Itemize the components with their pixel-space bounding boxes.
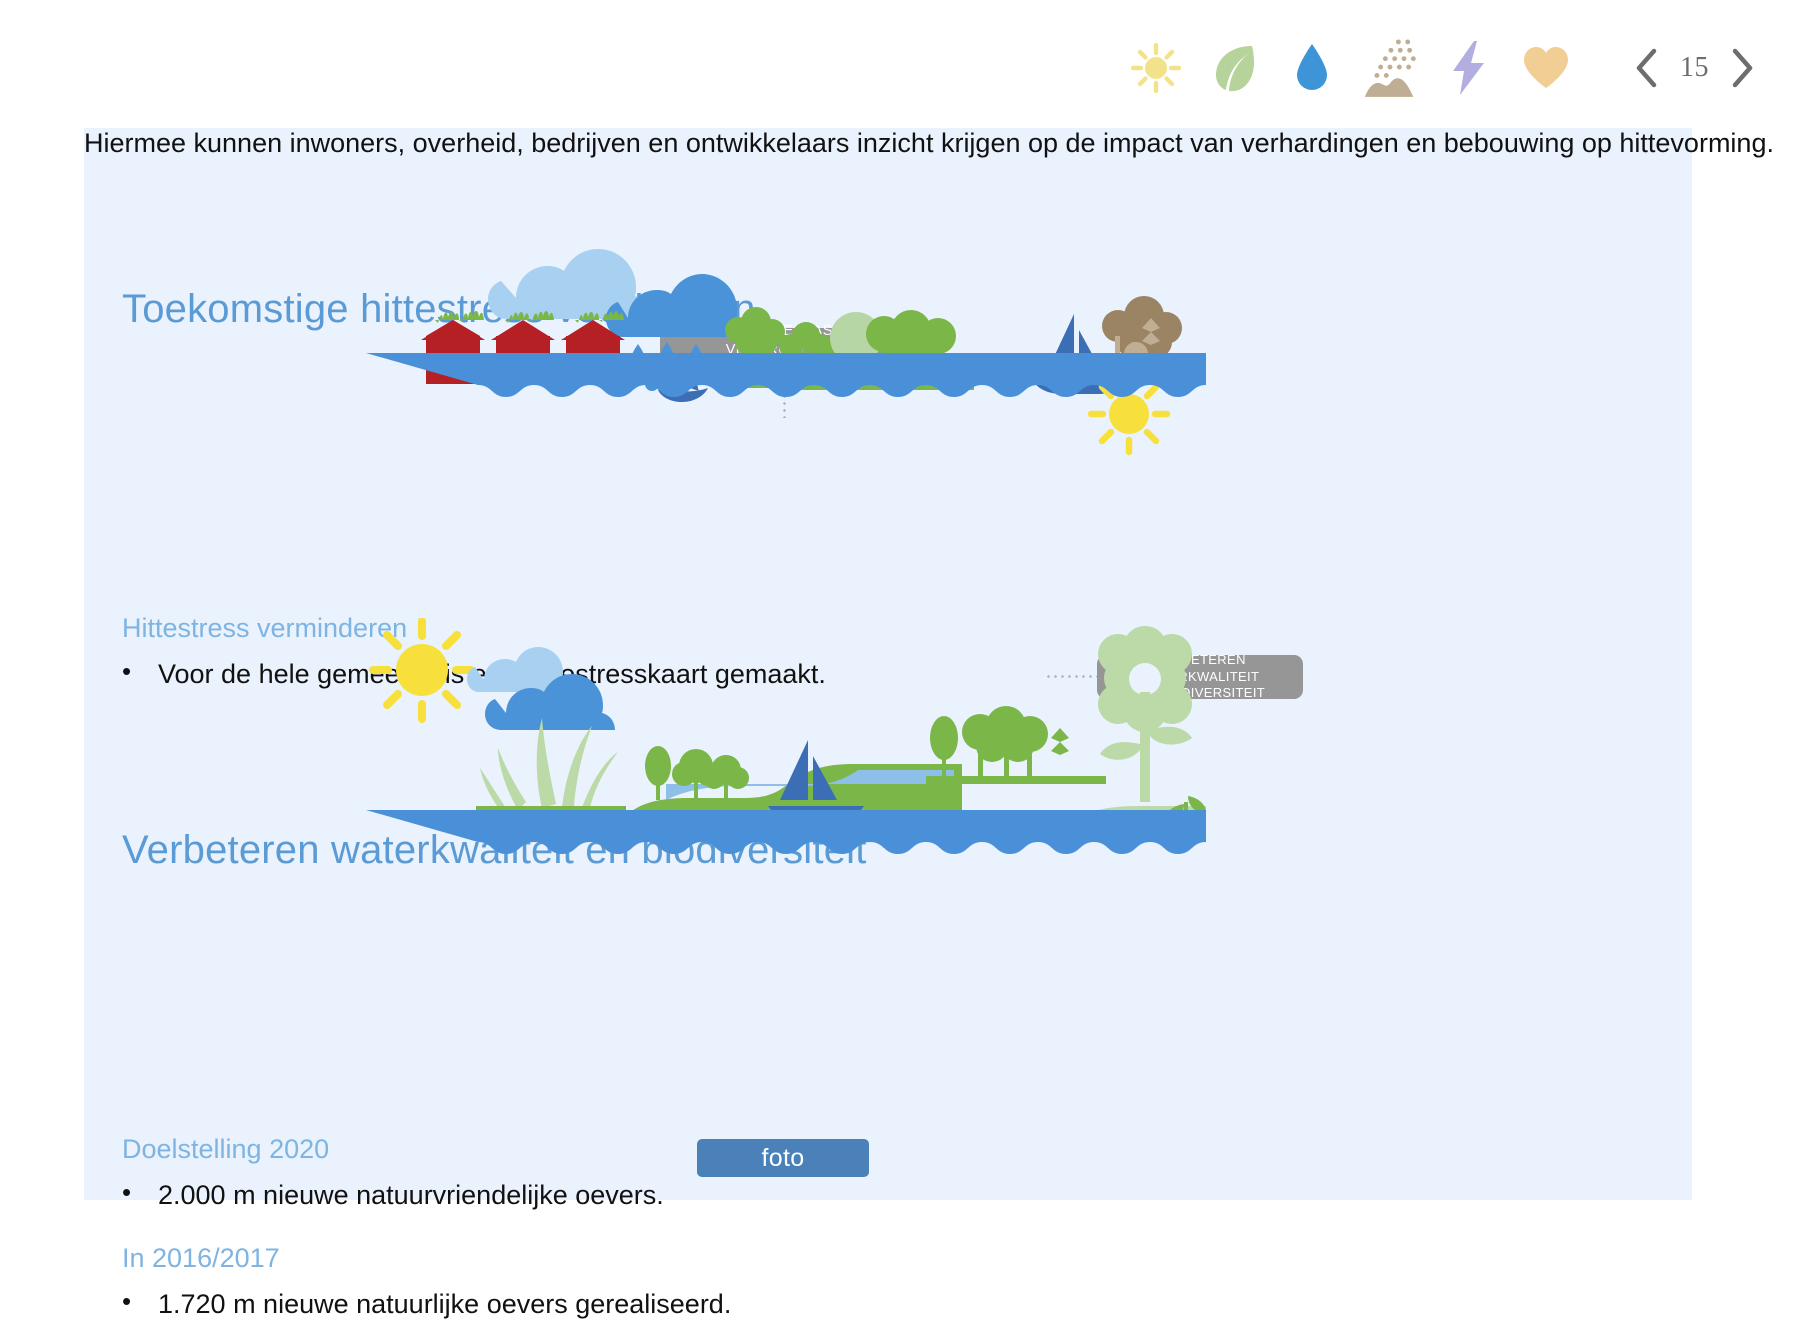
- section-1-bullet-continued: Hiermee kunnen inwoners, overheid, bedri…: [84, 128, 1692, 159]
- section-1-subheading: Hittestress verminderen: [122, 613, 407, 644]
- top-bar: 15: [0, 0, 1800, 128]
- section-2-bullet-year: • 1.720 m nieuwe natuurlijke oevers gere…: [122, 1285, 731, 1324]
- cloud-light-icon: [488, 249, 652, 319]
- flower-icon: [1098, 626, 1192, 802]
- bullet-marker: •: [122, 1285, 158, 1318]
- slide-panel: Toekomstige hittestress voorkomen WATERO…: [84, 128, 1692, 1200]
- water-band-1: [366, 343, 1206, 418]
- bullet-marker: •: [122, 1176, 158, 1209]
- bullet-marker: •: [122, 655, 158, 688]
- theme-icon-row: 15: [1128, 38, 1755, 98]
- section-2-bullet-goal: • 2.000 m nieuwe natuurvriendelijke oeve…: [122, 1176, 664, 1215]
- next-page-button[interactable]: [1729, 47, 1755, 89]
- sun-illustration-icon: [373, 621, 471, 719]
- soil-drought-icon[interactable]: [1362, 38, 1418, 98]
- pagination: 15: [1634, 47, 1755, 89]
- water-drop-icon[interactable]: [1284, 38, 1340, 98]
- reed-grass-icon: [480, 718, 618, 810]
- bullet-text: 2.000 m nieuwe natuurvriendelijke oevers…: [158, 1176, 664, 1215]
- page-number: 15: [1680, 52, 1709, 84]
- section-2-subheading-year: In 2016/2017: [122, 1243, 280, 1274]
- bullet-text: 1.720 m nieuwe natuurlijke oevers gereal…: [158, 1285, 731, 1324]
- foto-button[interactable]: foto: [697, 1139, 869, 1177]
- prev-page-button[interactable]: [1634, 47, 1660, 89]
- sun-icon[interactable]: [1128, 38, 1184, 98]
- lightning-bolt-icon[interactable]: [1440, 38, 1496, 98]
- leaf-icon[interactable]: [1206, 38, 1262, 98]
- section-2-subheading-goal: Doelstelling 2020: [122, 1134, 329, 1165]
- water-band-2: [366, 800, 1206, 875]
- heart-icon[interactable]: [1518, 38, 1574, 98]
